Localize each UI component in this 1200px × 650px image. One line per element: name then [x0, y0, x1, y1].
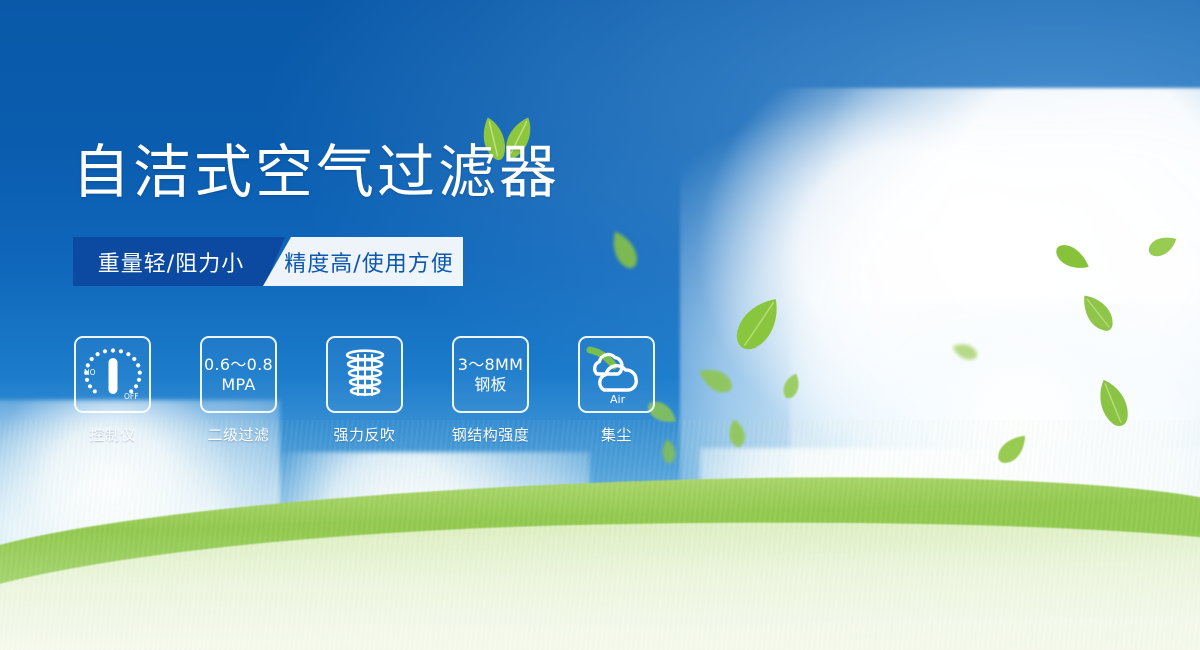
steel-thickness: 3～8MM	[458, 355, 523, 375]
gauge-off-label: OFF	[124, 392, 139, 401]
feature-icon-box: NO OFF	[74, 336, 151, 413]
subtitle-left-text: 重量轻/阻力小	[98, 246, 244, 278]
feature-icon-box: Air	[578, 336, 655, 413]
feature-label: 二级过滤	[207, 424, 269, 445]
gauge-on-label: NO	[84, 368, 96, 377]
feature-label: 集尘	[601, 424, 632, 445]
filter-cartridge-icon	[336, 346, 394, 404]
feature-label: 强力反吹	[333, 424, 395, 445]
page-title: 自洁式空气过滤器	[72, 143, 560, 201]
feature-label: 控制仪	[89, 424, 136, 445]
feature-item-control-gauge[interactable]: NO OFF 控制仪	[74, 336, 151, 445]
feature-icon-box: 0.6～0.8 MPA	[200, 336, 277, 413]
feature-icon-box	[326, 336, 403, 413]
air-label: Air	[610, 393, 626, 406]
feature-item-steel-plate[interactable]: 3～8MM 钢板 钢结构强度	[452, 336, 529, 445]
air-cloud-icon: Air	[584, 344, 650, 406]
subtitle-right-panel: 精度高/使用方便	[263, 237, 463, 286]
feature-item-reverse-blow[interactable]: 强力反吹	[326, 336, 403, 445]
feature-icon-box: 3～8MM 钢板	[452, 336, 529, 413]
feature-item-dust-collection[interactable]: Air 集尘	[578, 336, 655, 445]
product-banner: 自洁式空气过滤器 重量轻/阻力小 精度高/使用方便	[0, 0, 1200, 650]
pressure-value: 0.6～0.8	[204, 355, 273, 375]
steel-material: 钢板	[458, 375, 523, 395]
subtitle-bar: 重量轻/阻力小 精度高/使用方便	[73, 237, 463, 286]
subtitle-right-text: 精度高/使用方便	[272, 246, 453, 278]
feature-list: NO OFF 控制仪 0.6～0.8 MPA 二级过滤	[74, 336, 655, 445]
feature-item-pressure[interactable]: 0.6～0.8 MPA 二级过滤	[200, 336, 277, 445]
gauge-icon: NO OFF	[80, 345, 146, 405]
pressure-unit: MPA	[204, 375, 273, 395]
feature-label: 钢结构强度	[452, 424, 530, 445]
subtitle-left-panel: 重量轻/阻力小	[73, 237, 269, 286]
